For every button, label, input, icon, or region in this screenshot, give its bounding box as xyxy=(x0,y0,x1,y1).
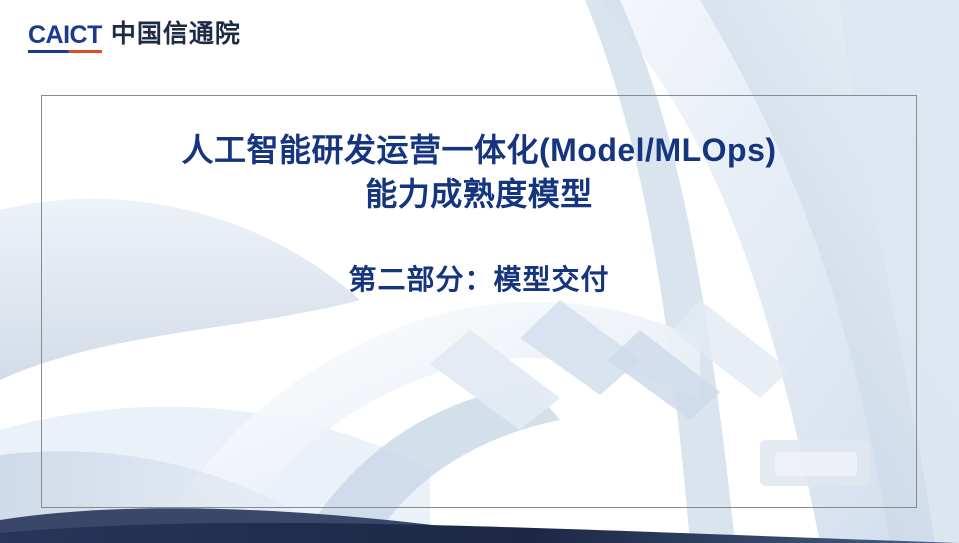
slide-title-line-2: 能力成熟度模型 xyxy=(42,172,916,216)
logo-mark-label: CAICT xyxy=(28,21,102,49)
title-block: 人工智能研发运营一体化(Model/MLOps) 能力成熟度模型 第二部分：模型… xyxy=(42,128,916,298)
caict-logo: CAICT 中国信通院 xyxy=(28,22,241,53)
logo-chinese-label: 中国信通院 xyxy=(111,22,241,53)
slide-subtitle: 第二部分：模型交付 xyxy=(42,258,916,298)
slide-title-line-1: 人工智能研发运营一体化(Model/MLOps) xyxy=(42,128,916,172)
logo-mark-text: CAICT xyxy=(28,23,102,53)
content-frame: 人工智能研发运营一体化(Model/MLOps) 能力成熟度模型 第二部分：模型… xyxy=(41,95,917,508)
slide-canvas: CAICT 中国信通院 人工智能研发运营一体化(Model/MLOps) 能力成… xyxy=(0,0,959,543)
logo-underline-bar xyxy=(28,50,102,53)
